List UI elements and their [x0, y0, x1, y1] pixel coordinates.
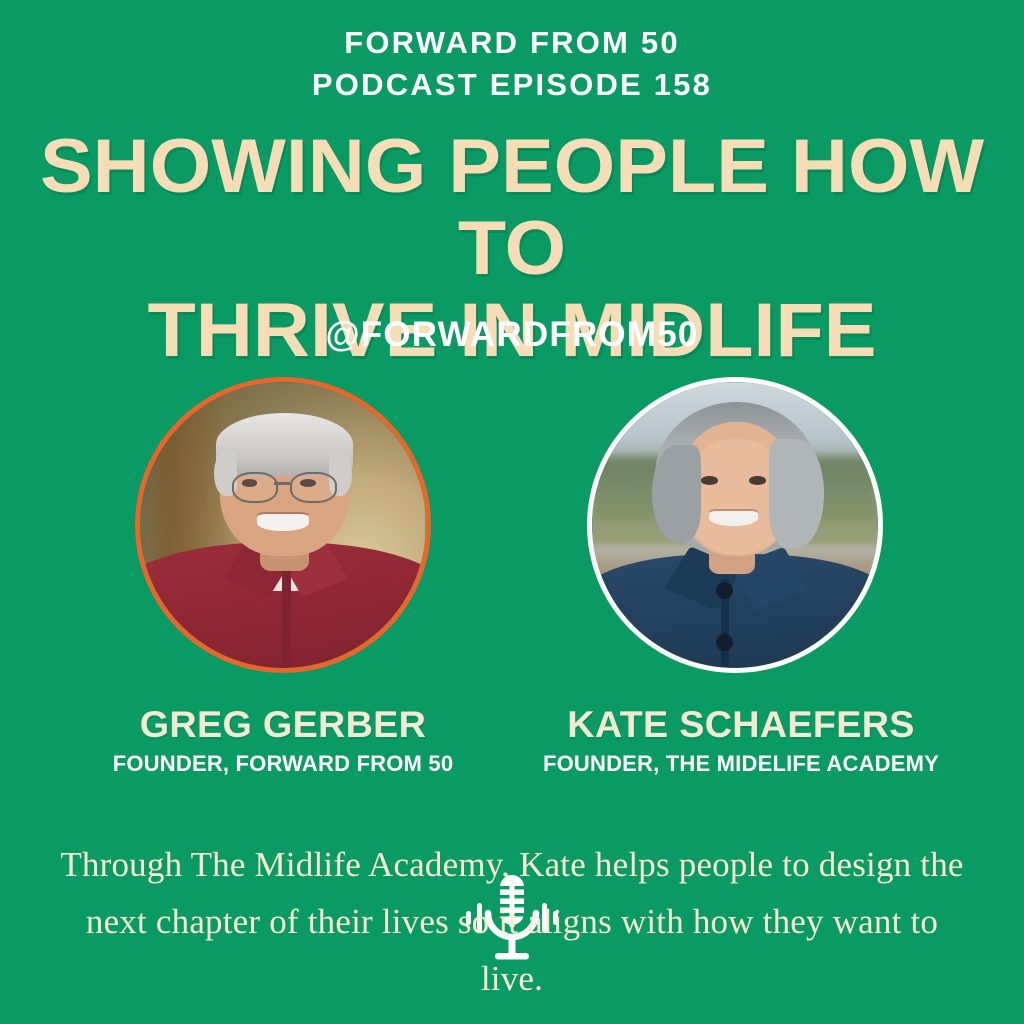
social-handle: @FORWARDFROM50	[0, 315, 1024, 355]
guest-greg-gerber: GREG GERBER FOUNDER, FORWARD FROM 50	[48, 704, 518, 779]
kate-schaefers-photo	[592, 382, 878, 668]
guest-role: FOUNDER, THE MIDELIFE ACADEMY	[506, 749, 976, 779]
kate-eye-left	[701, 476, 718, 485]
episode-number: PODCAST EPISODE 158	[0, 64, 1024, 106]
greg-shirt-placket	[282, 571, 291, 668]
greg-gerber-photo	[140, 382, 426, 668]
guest-role: FOUNDER, FORWARD FROM 50	[48, 749, 518, 779]
podcast-episode-graphic: FORWARD FROM 50 PODCAST EPISODE 158 SHOW…	[0, 0, 1024, 1024]
guest-name: KATE SCHAEFERS	[501, 704, 980, 746]
guest-names: GREG GERBER FOUNDER, FORWARD FROM 50 KAT…	[0, 704, 1024, 794]
portrait-row	[0, 382, 1024, 672]
kate-jacket-button-bottom	[716, 634, 733, 651]
greg-eyeglass-left	[232, 472, 279, 503]
kate-hair-left	[652, 445, 701, 542]
greg-eyeglass-right	[290, 472, 337, 503]
kate-jacket-button-top	[716, 582, 733, 599]
kate-schaefers-portrait	[592, 382, 878, 668]
episode-description: Through The Midlife Academy, Kate helps …	[56, 836, 968, 1007]
show-name: FORWARD FROM 50	[0, 22, 1024, 64]
greg-gerber-portrait	[140, 382, 426, 668]
episode-title-line-1: SHOWING PEOPLE HOW TO	[0, 126, 1024, 290]
kate-hair-right	[769, 439, 823, 548]
guest-name: GREG GERBER	[43, 704, 522, 746]
show-header: FORWARD FROM 50 PODCAST EPISODE 158	[0, 22, 1024, 106]
greg-eyeglass-bridge	[274, 482, 290, 485]
guest-kate-schaefers: KATE SCHAEFERS FOUNDER, THE MIDELIFE ACA…	[506, 704, 976, 779]
greg-smile	[257, 514, 308, 531]
